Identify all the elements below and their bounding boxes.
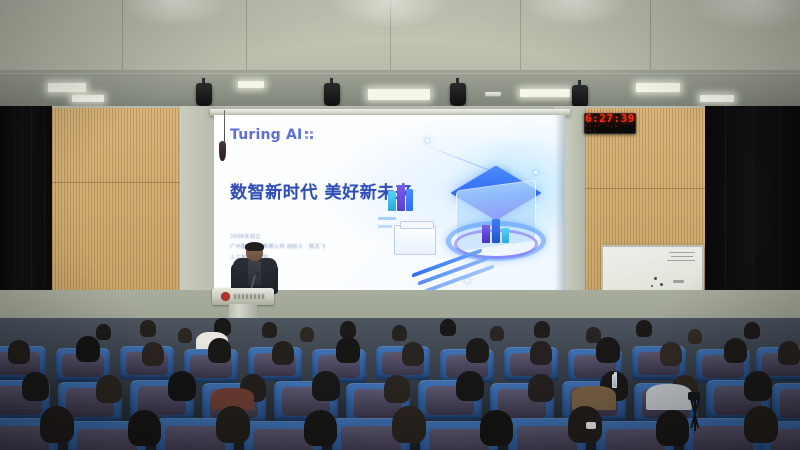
audience-member [440,319,456,336]
audience-member [456,371,484,401]
audience-member [216,406,250,443]
water-bottle [612,374,617,388]
slide-isometric-illustration [374,129,559,289]
audience-member [688,329,702,344]
brand-logo-text: Turing AI [230,127,302,143]
audience-member [744,371,772,401]
audience-member [636,320,652,337]
audience-member [140,320,156,337]
ceiling-speaker-icon [572,85,588,108]
hanging-microphone-icon [219,141,226,161]
audience-member [208,338,231,363]
ceiling-upper-panels [0,0,800,72]
lectern-engraved-text [234,294,265,299]
slide-subtitle-line: 2008年创立 [230,233,261,240]
audience-member [466,338,489,363]
audience-member [178,328,192,343]
audience-member [272,341,294,365]
audience-member [128,410,161,446]
audience-member [384,375,410,403]
audience-member [596,337,620,363]
audience-member [660,342,682,366]
ceiling-speaker-icon [450,83,466,106]
audience-member [480,410,513,446]
podium-microphone-head-icon [256,272,260,276]
audience-member [22,372,49,401]
audience-member [142,342,164,366]
audience-member [656,410,689,446]
audience-member [778,341,800,365]
slide-brand-logo: Turing AI [230,127,313,143]
audience-member [392,325,407,341]
audience-member [96,375,122,403]
audience-member [96,324,111,340]
audience-member [724,338,747,363]
audience-member [528,374,554,402]
audience-member [76,336,100,362]
ceiling-soffit [0,70,800,108]
audience-member [392,406,426,443]
ceiling-speaker-icon [324,83,340,106]
clock-unit-labels: HOUR MIN SEC [585,124,635,134]
audience-member [402,342,424,366]
audience-member [336,337,360,363]
audience-member [40,406,74,443]
clock-time: 6:27:39 [585,113,635,124]
audience-seating-area [0,318,800,450]
conference-hall-scene: 6:27:39 HOUR MIN SEC Turing AI 数智新时代 美好新… [0,0,800,450]
audience-member [568,406,602,443]
audience-member [646,384,692,410]
hanging-microphone-cable [224,110,225,144]
hair-clip-icon [586,422,596,429]
audience-member [534,321,550,338]
audience-member [340,321,356,338]
audience-member [490,326,504,341]
audience-member [168,371,196,401]
presenter-person [232,243,278,293]
audience-member [262,322,277,338]
ceiling-speaker-icon [196,83,212,106]
audience-member [312,371,340,401]
audience-member [744,406,778,443]
audience-member [304,410,337,446]
institution-emblem-icon [221,292,230,301]
audience-member [744,322,760,339]
led-digital-clock: 6:27:39 HOUR MIN SEC [584,113,636,134]
logo-grid-icon [305,131,312,138]
audience-member [8,340,30,364]
audience-member [300,327,314,342]
audience-member [530,341,552,365]
